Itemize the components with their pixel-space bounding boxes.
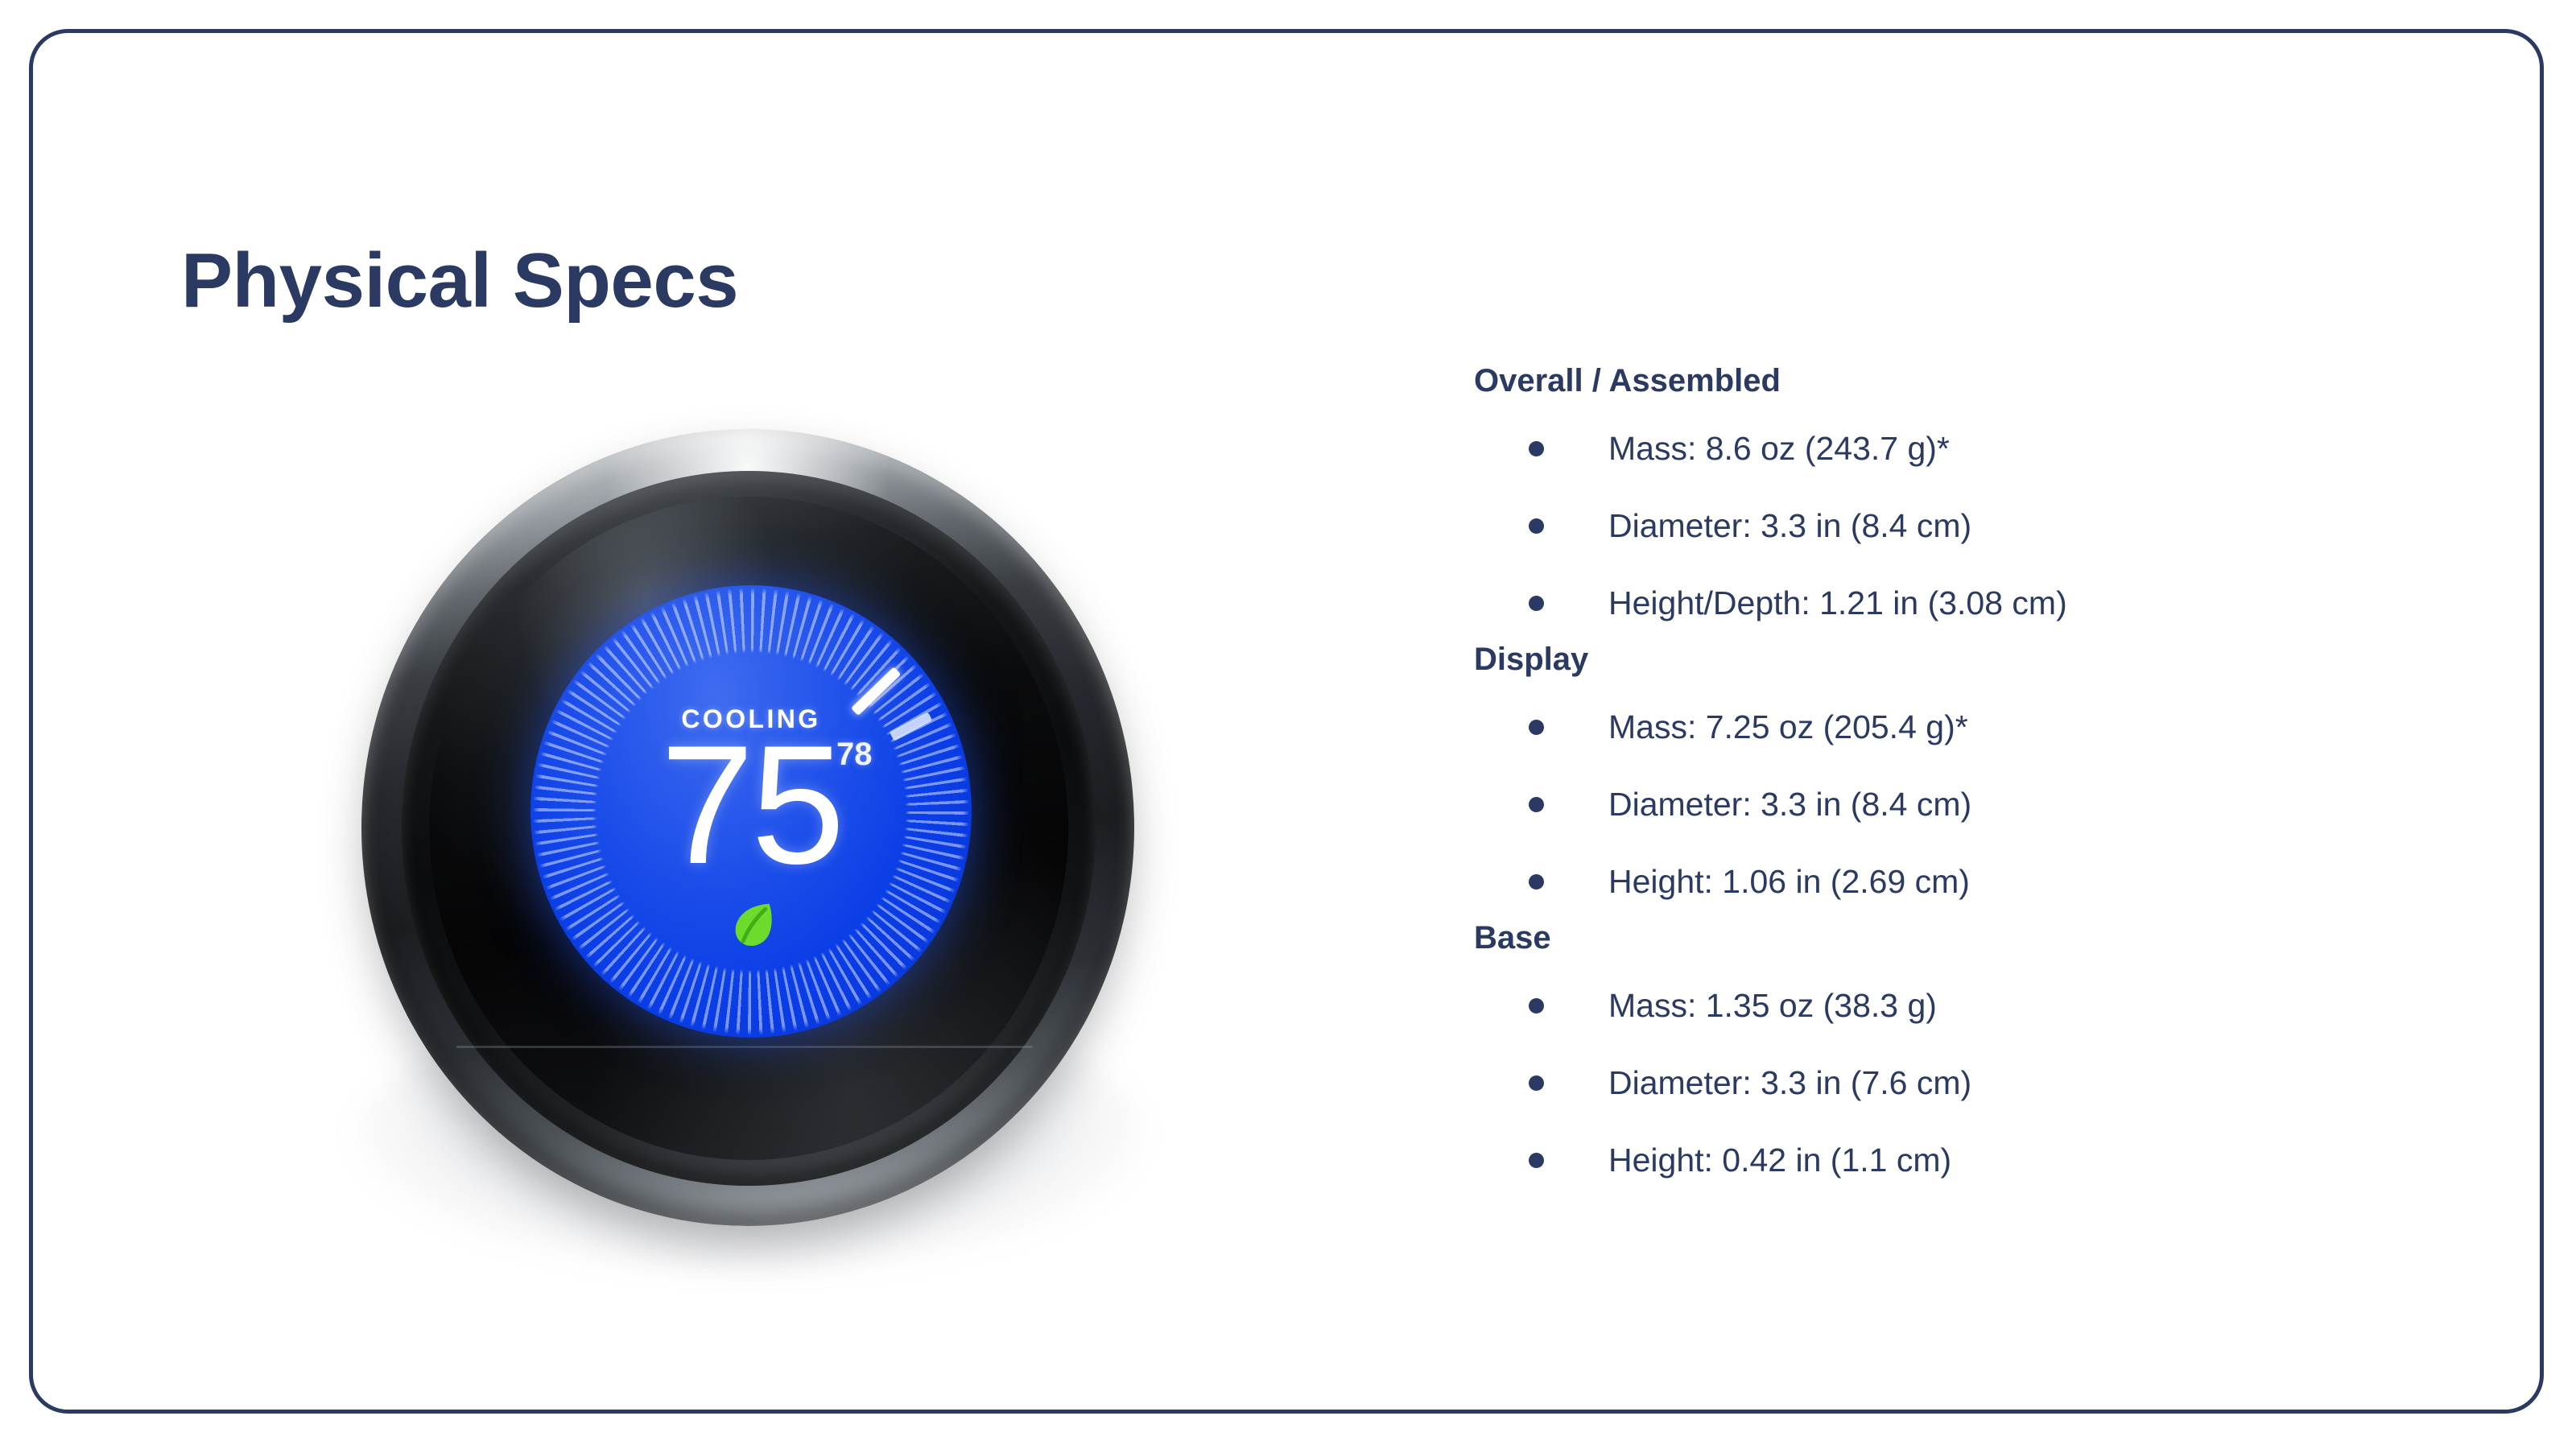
spec-item-label: Diameter: 3.3 in (8.4 cm) — [1608, 788, 1971, 821]
bullet-icon — [1529, 998, 1544, 1013]
list-item: Diameter: 3.3 in (8.4 cm) — [1474, 487, 2504, 564]
slide-card: Physical Specs COOLING 75 78 Ove — [29, 29, 2544, 1414]
display-current-temperature: 78 — [836, 737, 873, 773]
bullet-icon — [1529, 1153, 1544, 1168]
spec-group-heading: Overall / Assembled — [1474, 365, 2504, 410]
thermostat-display: COOLING 75 78 — [530, 585, 972, 1038]
bullet-icon — [1529, 518, 1544, 534]
list-item: Diameter: 3.3 in (7.6 cm) — [1474, 1044, 2504, 1121]
display-target-temperature: 75 — [530, 720, 972, 890]
list-item: Mass: 1.35 oz (38.3 g) — [1474, 967, 2504, 1044]
bullet-icon — [1529, 441, 1544, 456]
spec-item-label: Diameter: 3.3 in (7.6 cm) — [1608, 1067, 1971, 1100]
bullet-icon — [1529, 596, 1544, 611]
spec-item-label: Height: 0.42 in (1.1 cm) — [1608, 1144, 1951, 1177]
spec-item-label: Mass: 7.25 oz (205.4 g)* — [1608, 711, 1968, 744]
list-item: Diameter: 3.3 in (8.4 cm) — [1474, 766, 2504, 843]
spec-item-label: Mass: 8.6 oz (243.7 g)* — [1608, 432, 1950, 465]
bullet-icon — [1529, 1075, 1544, 1091]
list-item: Height: 0.42 in (1.1 cm) — [1474, 1121, 2504, 1199]
spec-item-label: Diameter: 3.3 in (8.4 cm) — [1608, 510, 1971, 543]
spec-item-label: Height/Depth: 1.21 in (3.08 cm) — [1608, 587, 2067, 620]
leaf-icon — [729, 901, 778, 951]
spec-group-heading: Display — [1474, 643, 2504, 688]
list-item: Mass: 8.6 oz (243.7 g)* — [1474, 410, 2504, 487]
spec-group-display: Display Mass: 7.25 oz (205.4 g)* Diamete… — [1474, 643, 2504, 920]
bullet-icon — [1529, 720, 1544, 735]
spec-item-label: Height: 1.06 in (2.69 cm) — [1608, 865, 1970, 898]
spec-group-base: Base Mass: 1.35 oz (38.3 g) Diameter: 3.… — [1474, 922, 2504, 1199]
spec-group-items: Mass: 7.25 oz (205.4 g)* Diameter: 3.3 i… — [1474, 688, 2504, 920]
spec-group-overall: Overall / Assembled Mass: 8.6 oz (243.7 … — [1474, 365, 2504, 642]
list-item: Height/Depth: 1.21 in (3.08 cm) — [1474, 564, 2504, 642]
bullet-icon — [1529, 874, 1544, 890]
spec-list: Overall / Assembled Mass: 8.6 oz (243.7 … — [1474, 365, 2504, 1200]
thermostat-product-image: COOLING 75 78 — [299, 387, 1200, 1305]
spec-group-heading: Base — [1474, 922, 2504, 967]
page-title: Physical Specs — [181, 242, 738, 320]
spec-group-items: Mass: 8.6 oz (243.7 g)* Diameter: 3.3 in… — [1474, 410, 2504, 642]
spec-group-items: Mass: 1.35 oz (38.3 g) Diameter: 3.3 in … — [1474, 967, 2504, 1199]
list-item: Height: 1.06 in (2.69 cm) — [1474, 843, 2504, 920]
bullet-icon — [1529, 797, 1544, 812]
list-item: Mass: 7.25 oz (205.4 g)* — [1474, 688, 2504, 766]
spec-item-label: Mass: 1.35 oz (38.3 g) — [1608, 989, 1937, 1022]
